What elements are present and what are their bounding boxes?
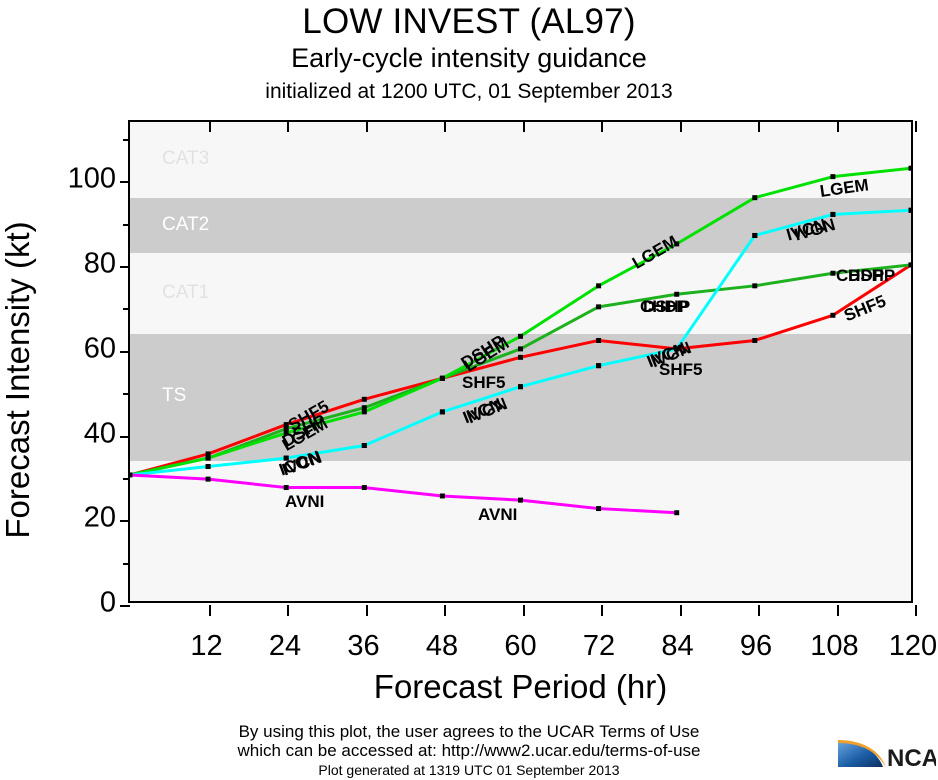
x-axis-tick (837, 605, 839, 616)
data-point-marker (596, 304, 601, 309)
x-axis-tick (366, 121, 368, 132)
y-axis-minor-tick (123, 308, 130, 310)
data-point-marker (596, 506, 601, 511)
y-axis-minor-tick (123, 139, 130, 141)
data-point-marker (440, 409, 445, 414)
data-point-marker (518, 498, 523, 503)
ncar-logo: NCAR (836, 734, 936, 774)
y-axis-minor-tick (123, 224, 130, 226)
series-label-avni: AVNI (478, 505, 517, 525)
terms-line-1: By using this plot, the user agrees to t… (239, 722, 700, 741)
series-label-chdp: CHDP (640, 297, 688, 317)
data-point-marker (206, 456, 211, 461)
x-axis-tick-label: 60 (504, 630, 536, 663)
x-axis-tick-label: 48 (426, 630, 458, 663)
data-point-marker (362, 409, 367, 414)
y-axis-labels: 020406080100 (28, 120, 116, 603)
y-axis-minor-tick (123, 478, 130, 480)
terms-line-2: which can be accessed at: http://www2.uc… (237, 741, 700, 760)
data-point-marker (596, 363, 601, 368)
data-point-marker (909, 262, 911, 267)
terms-of-use-text: By using this plot, the user agrees to t… (0, 722, 938, 760)
series-label-avni: AVNI (285, 492, 324, 512)
data-point-marker (362, 443, 367, 448)
x-axis-tick (444, 605, 446, 616)
y-axis-tick (120, 351, 130, 353)
data-point-marker (752, 338, 757, 343)
data-point-marker (830, 313, 835, 318)
y-axis-tick (120, 181, 130, 183)
x-axis-tick-label: 84 (661, 630, 693, 663)
x-axis-tick (209, 605, 211, 616)
chart-plot-area: TSCAT1CAT2CAT3 (128, 120, 913, 603)
ncar-logo-text: NCAR (887, 745, 936, 772)
data-point-marker (440, 376, 445, 381)
x-axis-tick (758, 605, 760, 616)
x-axis-tick (287, 121, 289, 132)
data-point-marker (362, 397, 367, 402)
data-point-marker (596, 338, 601, 343)
data-point-marker (752, 233, 757, 238)
y-axis-tick (120, 436, 130, 438)
x-axis-labels: 1224364860728496108120 (128, 630, 913, 666)
x-axis-title: Forecast Period (hr) (128, 668, 913, 706)
data-point-marker (518, 334, 523, 339)
data-point-marker (909, 166, 911, 171)
data-point-marker (206, 464, 211, 469)
chart-subtitle: Early-cycle intensity guidance (0, 43, 938, 74)
x-axis-tick (523, 605, 525, 616)
series-label-shf5: SHF5 (659, 360, 702, 380)
x-axis-tick-label: 36 (347, 630, 379, 663)
x-axis-tick (209, 121, 211, 132)
data-point-marker (674, 510, 679, 515)
data-point-marker (362, 485, 367, 490)
y-axis-tick-label: 60 (84, 332, 116, 365)
x-axis-tick (915, 121, 917, 132)
y-axis-tick (120, 520, 130, 522)
series-line-dshp (130, 265, 911, 475)
x-axis-tick-label: 96 (740, 630, 772, 663)
x-axis-tick (444, 121, 446, 132)
series-line-ivcn (130, 210, 911, 475)
x-axis-tick-label: 120 (889, 630, 937, 663)
y-axis-tick-label: 40 (84, 417, 116, 450)
y-axis-tick-label: 0 (100, 587, 116, 620)
x-axis-tick (758, 121, 760, 132)
data-point-marker (909, 208, 911, 213)
page-title: LOW INVEST (AL97) (0, 2, 938, 42)
data-point-marker (674, 292, 679, 297)
x-axis-tick (680, 121, 682, 132)
data-point-marker (830, 174, 835, 179)
y-axis-tick-label: 100 (68, 163, 116, 196)
y-axis-tick (120, 605, 130, 607)
series-line-lgem (130, 168, 911, 475)
series-line-avni (130, 475, 677, 513)
data-point-marker (440, 493, 445, 498)
chart-initialized-time: initialized at 1200 UTC, 01 September 20… (0, 80, 938, 104)
x-axis-tick (366, 605, 368, 616)
y-axis-tick-label: 20 (84, 502, 116, 535)
y-axis-minor-tick (123, 563, 130, 565)
data-point-marker (752, 283, 757, 288)
chart-curves (130, 122, 911, 601)
data-point-marker (284, 485, 289, 490)
y-axis-tick-label: 80 (84, 248, 116, 281)
data-point-marker (206, 477, 211, 482)
data-point-marker (518, 346, 523, 351)
y-axis-minor-tick (123, 393, 130, 395)
x-axis-tick (523, 121, 525, 132)
x-axis-tick (837, 121, 839, 132)
data-point-marker (130, 472, 132, 477)
data-point-marker (596, 283, 601, 288)
x-axis-tick-label: 108 (810, 630, 858, 663)
x-axis-tick (287, 605, 289, 616)
x-axis-tick-label: 72 (583, 630, 615, 663)
series-label-shf5: SHF5 (462, 373, 505, 393)
x-axis-tick (680, 605, 682, 616)
x-axis-tick-label: 12 (190, 630, 222, 663)
x-axis-tick (601, 605, 603, 616)
x-axis-tick (915, 605, 917, 616)
x-axis-tick-label: 24 (269, 630, 301, 663)
generated-timestamp: Plot generated at 1319 UTC 01 September … (0, 762, 938, 778)
data-point-marker (518, 355, 523, 360)
x-axis-tick (601, 121, 603, 132)
y-axis-tick (120, 266, 130, 268)
data-point-marker (752, 195, 757, 200)
data-point-marker (518, 384, 523, 389)
series-label-dshp: DSHP (848, 266, 895, 286)
data-point-marker (830, 271, 835, 276)
